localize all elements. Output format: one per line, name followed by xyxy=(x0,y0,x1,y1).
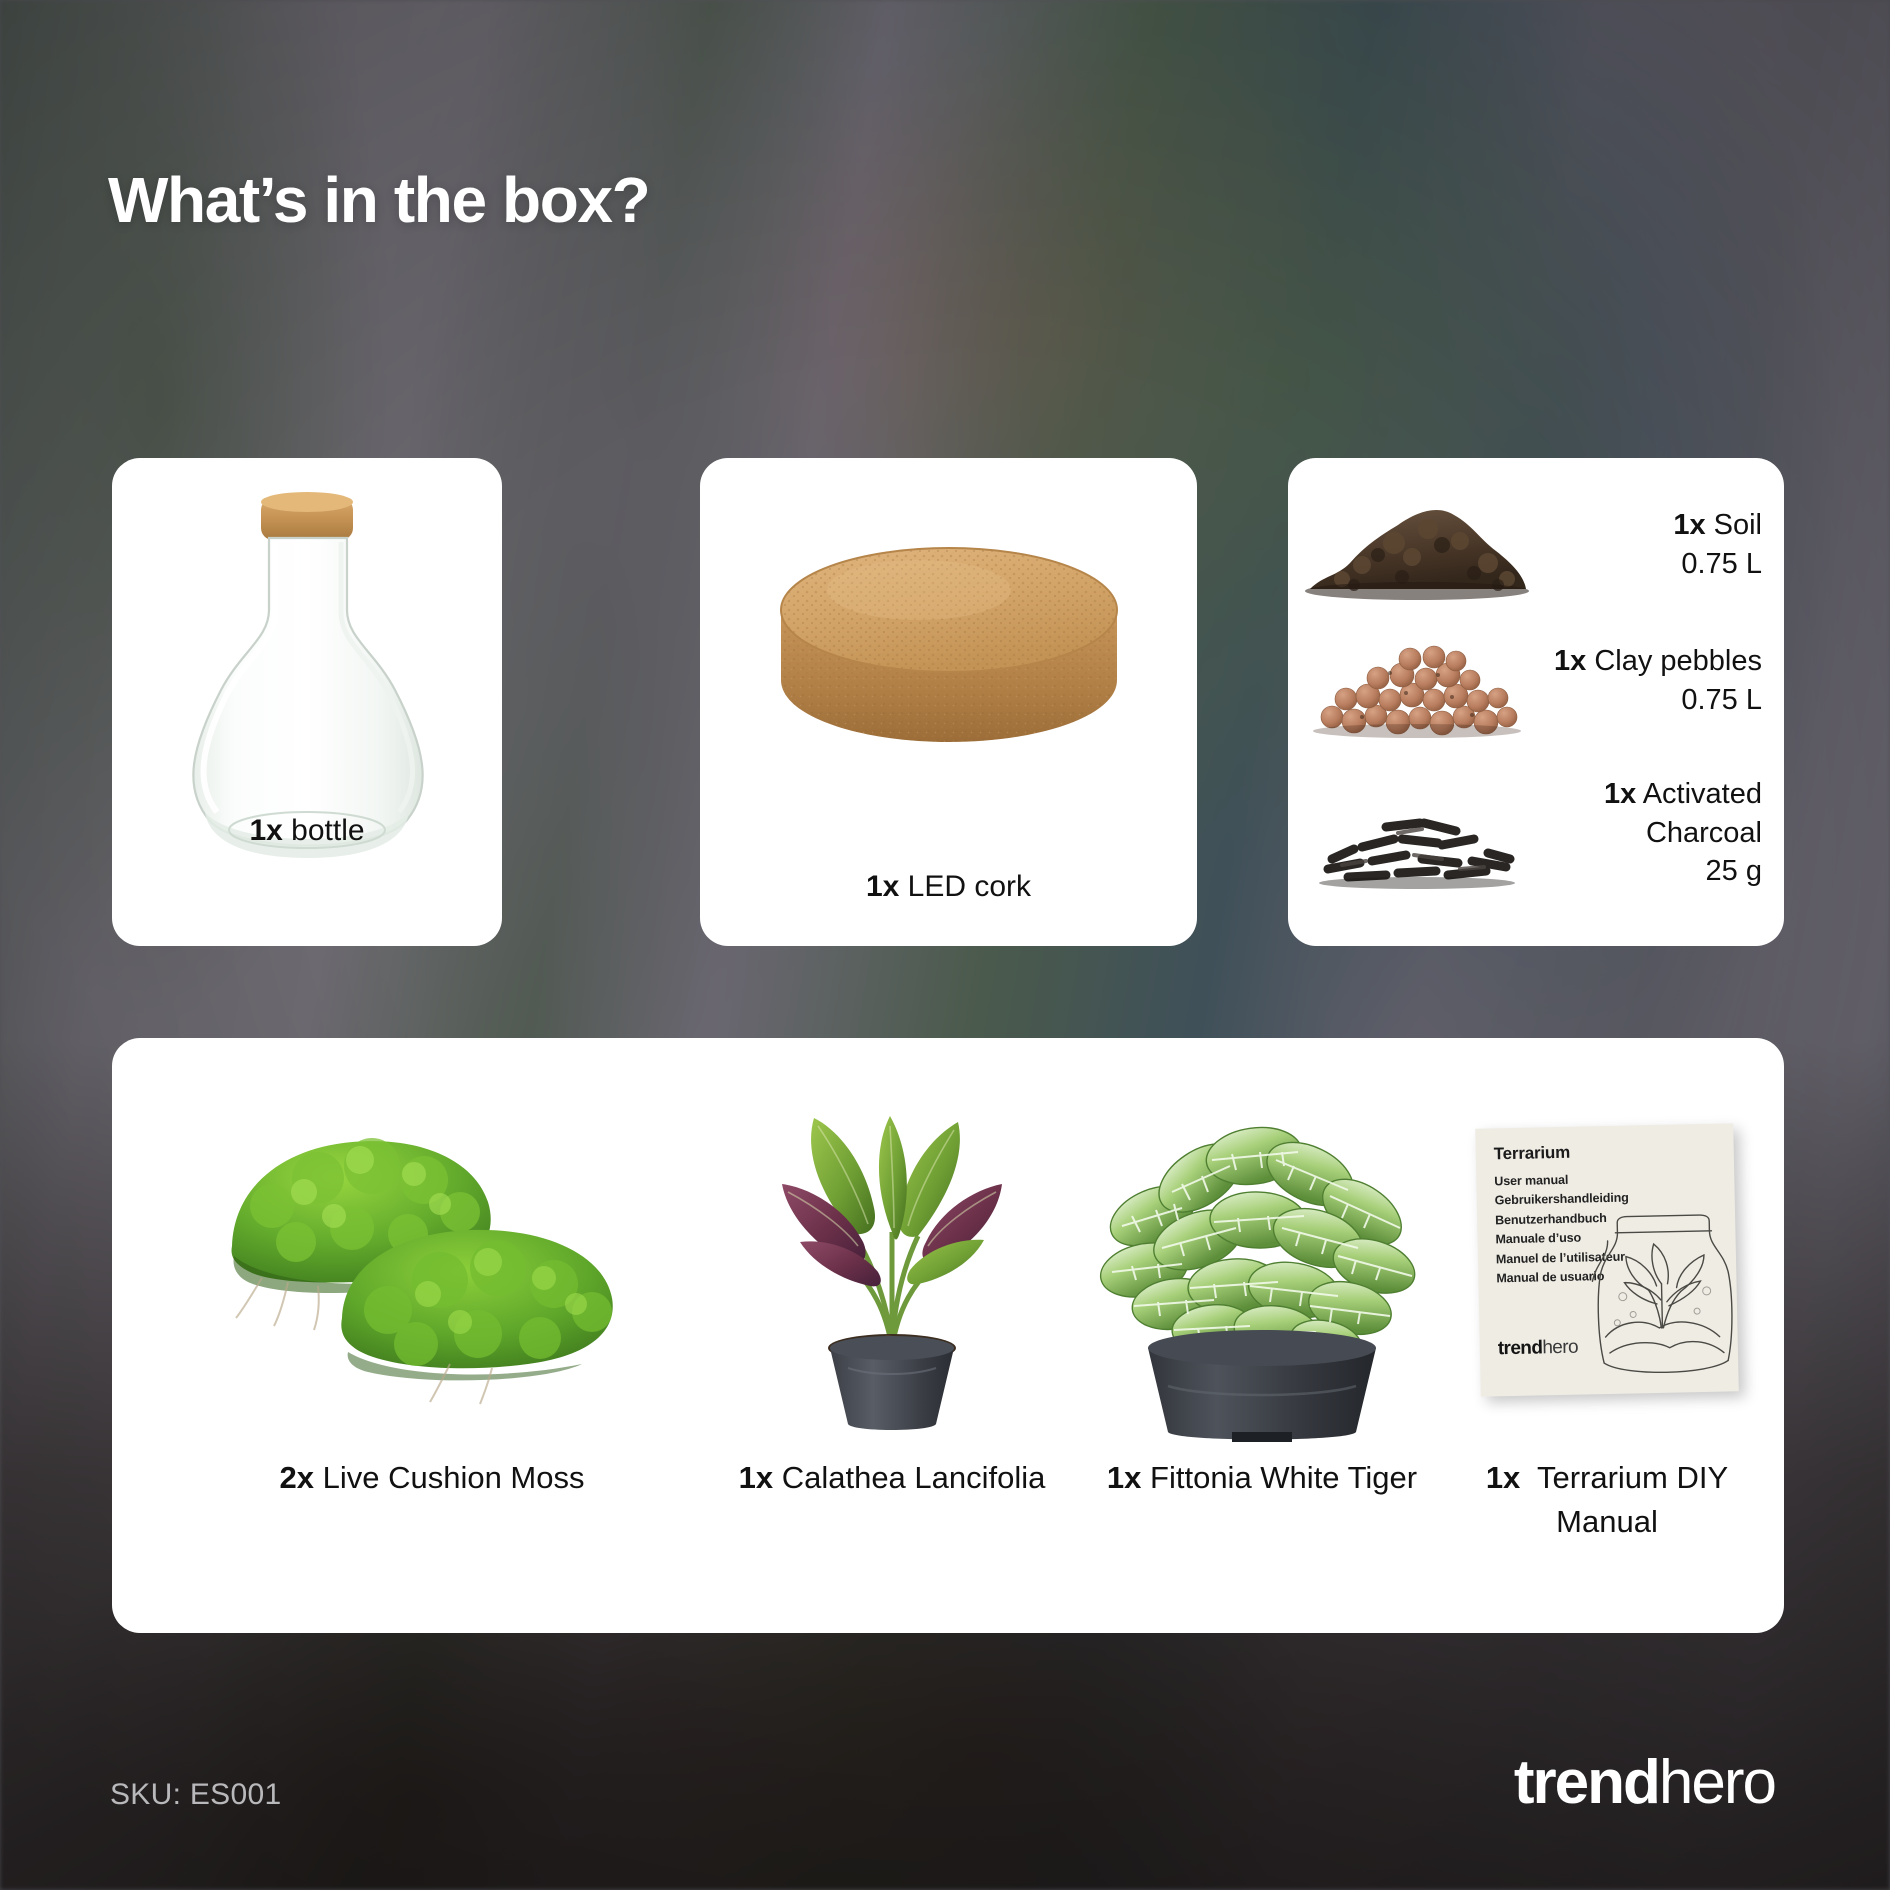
fittonia-name: Fittonia White Tiger xyxy=(1150,1460,1417,1495)
brand-logo-light: hero xyxy=(1659,1748,1775,1817)
plant-cell-calathea: 1x Calathea Lancifolia xyxy=(712,1056,1072,1616)
charcoal-amount: 25 g xyxy=(1706,855,1762,887)
manual-logo-light: hero xyxy=(1542,1337,1578,1359)
manual-cover-title: Terrarium xyxy=(1494,1143,1571,1165)
bottle-label: bottle xyxy=(291,814,364,847)
sku-text: SKU: ES001 xyxy=(110,1778,281,1812)
brand-logo-bold: trend xyxy=(1514,1748,1659,1817)
substrate-row-charcoal: 1x Activated Charcoal 25 g xyxy=(1302,758,1762,908)
moss-label: 2x Live Cushion Moss xyxy=(142,1456,722,1500)
bottle-caption: 1x bottle xyxy=(112,810,502,851)
moss-qty: 2x xyxy=(279,1460,313,1495)
substrate-row-clay: 1x Clay pebbles 0.75 L xyxy=(1302,616,1762,746)
calathea-name: Calathea Lancifolia xyxy=(782,1460,1046,1495)
substrate-row-soil: 1x Soil 0.75 L xyxy=(1302,480,1762,610)
card-plants-and-manual: 2x Live Cushion Moss xyxy=(112,1038,1784,1633)
cork-qty: 1x xyxy=(866,870,899,903)
fittonia-qty: 1x xyxy=(1107,1460,1141,1495)
manual-booklet-icon: Terrarium User manual Gebruikershandleid… xyxy=(1442,1056,1772,1446)
plant-cell-moss: 2x Live Cushion Moss xyxy=(142,1056,722,1616)
cushion-moss-icon xyxy=(142,1056,722,1446)
soil-amount: 0.75 L xyxy=(1681,548,1762,580)
clay-amount: 0.75 L xyxy=(1681,684,1762,716)
charcoal-name: Activated Charcoal xyxy=(1643,778,1762,849)
substrate-text-clay: 1x Clay pebbles 0.75 L xyxy=(1532,642,1762,719)
manual-cover: Terrarium User manual Gebruikershandleid… xyxy=(1475,1123,1739,1396)
bottle-qty: 1x xyxy=(249,814,282,847)
brand-logo: trendhero xyxy=(1514,1752,1775,1814)
plant-cell-manual: Terrarium User manual Gebruikershandleid… xyxy=(1442,1056,1772,1616)
soil-pile-icon xyxy=(1302,485,1532,605)
fittonia-plant-icon xyxy=(1052,1056,1472,1446)
clay-qty: 1x xyxy=(1554,645,1586,677)
soil-name: Soil xyxy=(1714,509,1762,541)
plant-cell-fittonia: 1x Fittonia White Tiger xyxy=(1052,1056,1472,1616)
activated-charcoal-icon xyxy=(1302,773,1532,893)
card-substrates: 1x Soil 0.75 L xyxy=(1288,458,1784,946)
soil-qty: 1x xyxy=(1673,509,1705,541)
cork-lid-icon xyxy=(769,518,1129,783)
charcoal-qty: 1x xyxy=(1604,778,1636,810)
cork-label: LED cork xyxy=(908,870,1031,903)
clay-name: Clay pebbles xyxy=(1594,645,1762,677)
calathea-qty: 1x xyxy=(739,1460,773,1495)
terrarium-jar-sketch-icon xyxy=(1581,1194,1739,1392)
manual-qty: 1x xyxy=(1486,1460,1520,1495)
substrate-text-soil: 1x Soil 0.75 L xyxy=(1532,506,1762,583)
cork-caption: 1x LED cork xyxy=(700,866,1197,907)
card-bottle: 1x bottle xyxy=(112,458,502,946)
infographic-page: What’s in the box? xyxy=(0,0,1890,1890)
substrate-text-charcoal: 1x Activated Charcoal 25 g xyxy=(1532,775,1762,891)
manual-cover-logo: trendhero xyxy=(1498,1337,1579,1361)
card-cork: 1x LED cork xyxy=(700,458,1197,946)
fittonia-label: 1x Fittonia White Tiger xyxy=(1052,1456,1472,1500)
page-title: What’s in the box? xyxy=(108,163,649,237)
manual-logo-bold: trend xyxy=(1498,1337,1543,1359)
calathea-label: 1x Calathea Lancifolia xyxy=(712,1456,1072,1500)
manual-name: Terrarium DIY Manual xyxy=(1537,1460,1728,1539)
moss-name: Live Cushion Moss xyxy=(323,1460,585,1495)
clay-pebbles-icon xyxy=(1302,621,1532,741)
calathea-plant-icon xyxy=(712,1056,1072,1446)
manual-label: 1x Terrarium DIY Manual xyxy=(1442,1456,1772,1544)
